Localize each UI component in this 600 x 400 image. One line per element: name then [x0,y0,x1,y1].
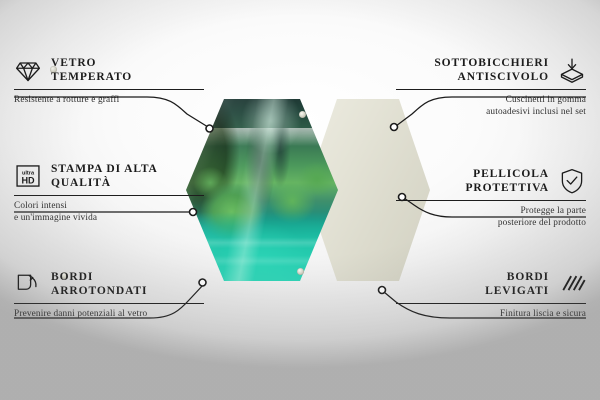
feature-subtitle: Prevenire danni potenziali al vetro [14,308,204,320]
feature-callout-bordi-arrotondati: BORDI ARROTONDATI Prevenire danni potenz… [14,270,204,320]
feature-title: VETRO TEMPERATO [51,56,132,84]
hatch-lines-icon [558,270,586,298]
divider [396,303,586,304]
divider [14,89,204,90]
feature-callout-vetro-temperato: VETRO TEMPERATO Resistente a rotture e g… [14,56,204,106]
infographic-canvas: VETRO TEMPERATO Resistente a rotture e g… [0,0,600,400]
rubber-pad [297,268,304,275]
feature-title: STAMPA DI ALTA QUALITÀ [51,162,158,190]
divider [14,195,204,196]
hexagon-front-panel [186,99,338,281]
glass-gloss-layer [186,99,338,281]
shield-check-icon [558,167,586,195]
divider [396,200,586,201]
leader-endpoint-dot [379,287,386,294]
feature-title: PELLICOLA PROTETTIVA [465,167,549,195]
feature-title: SOTTOBICCHIERI ANTISCIVOLO [434,56,549,84]
feature-title: BORDI ARROTONDATI [51,270,147,298]
feature-callout-pellicola-protettiva: PELLICOLA PROTETTIVA Protegge la parte p… [396,167,586,230]
press-pad-icon [558,56,586,84]
diamond-icon [14,56,42,84]
feature-subtitle: Finitura liscia e sicura [396,308,586,320]
divider [14,303,204,304]
rounded-corner-icon [14,270,42,298]
feature-subtitle: Cuscinetti in gomma autoadesivi inclusi … [396,94,586,119]
divider [396,89,586,90]
feature-subtitle: Colori intensi e un'immagine vivida [14,200,204,225]
feature-subtitle: Resistente a rotture e graffi [14,94,204,106]
rubber-pad [299,111,306,118]
feature-callout-stampa-alta-qualita: ultra HD STAMPA DI ALTA QUALITÀ Colori i… [14,162,204,225]
feature-callout-sottobicchieri-antiscivolo: SOTTOBICCHIERI ANTISCIVOLO Cuscinetti in… [396,56,586,119]
svg-text:HD: HD [21,175,35,185]
feature-title: BORDI LEVIGATI [485,270,549,298]
ultra-hd-badge-icon: ultra HD [14,162,42,190]
feature-subtitle: Protegge la parte posteriore del prodott… [396,205,586,230]
feature-callout-bordi-levigati: BORDI LEVIGATI Finitura liscia e sicura [396,270,586,320]
